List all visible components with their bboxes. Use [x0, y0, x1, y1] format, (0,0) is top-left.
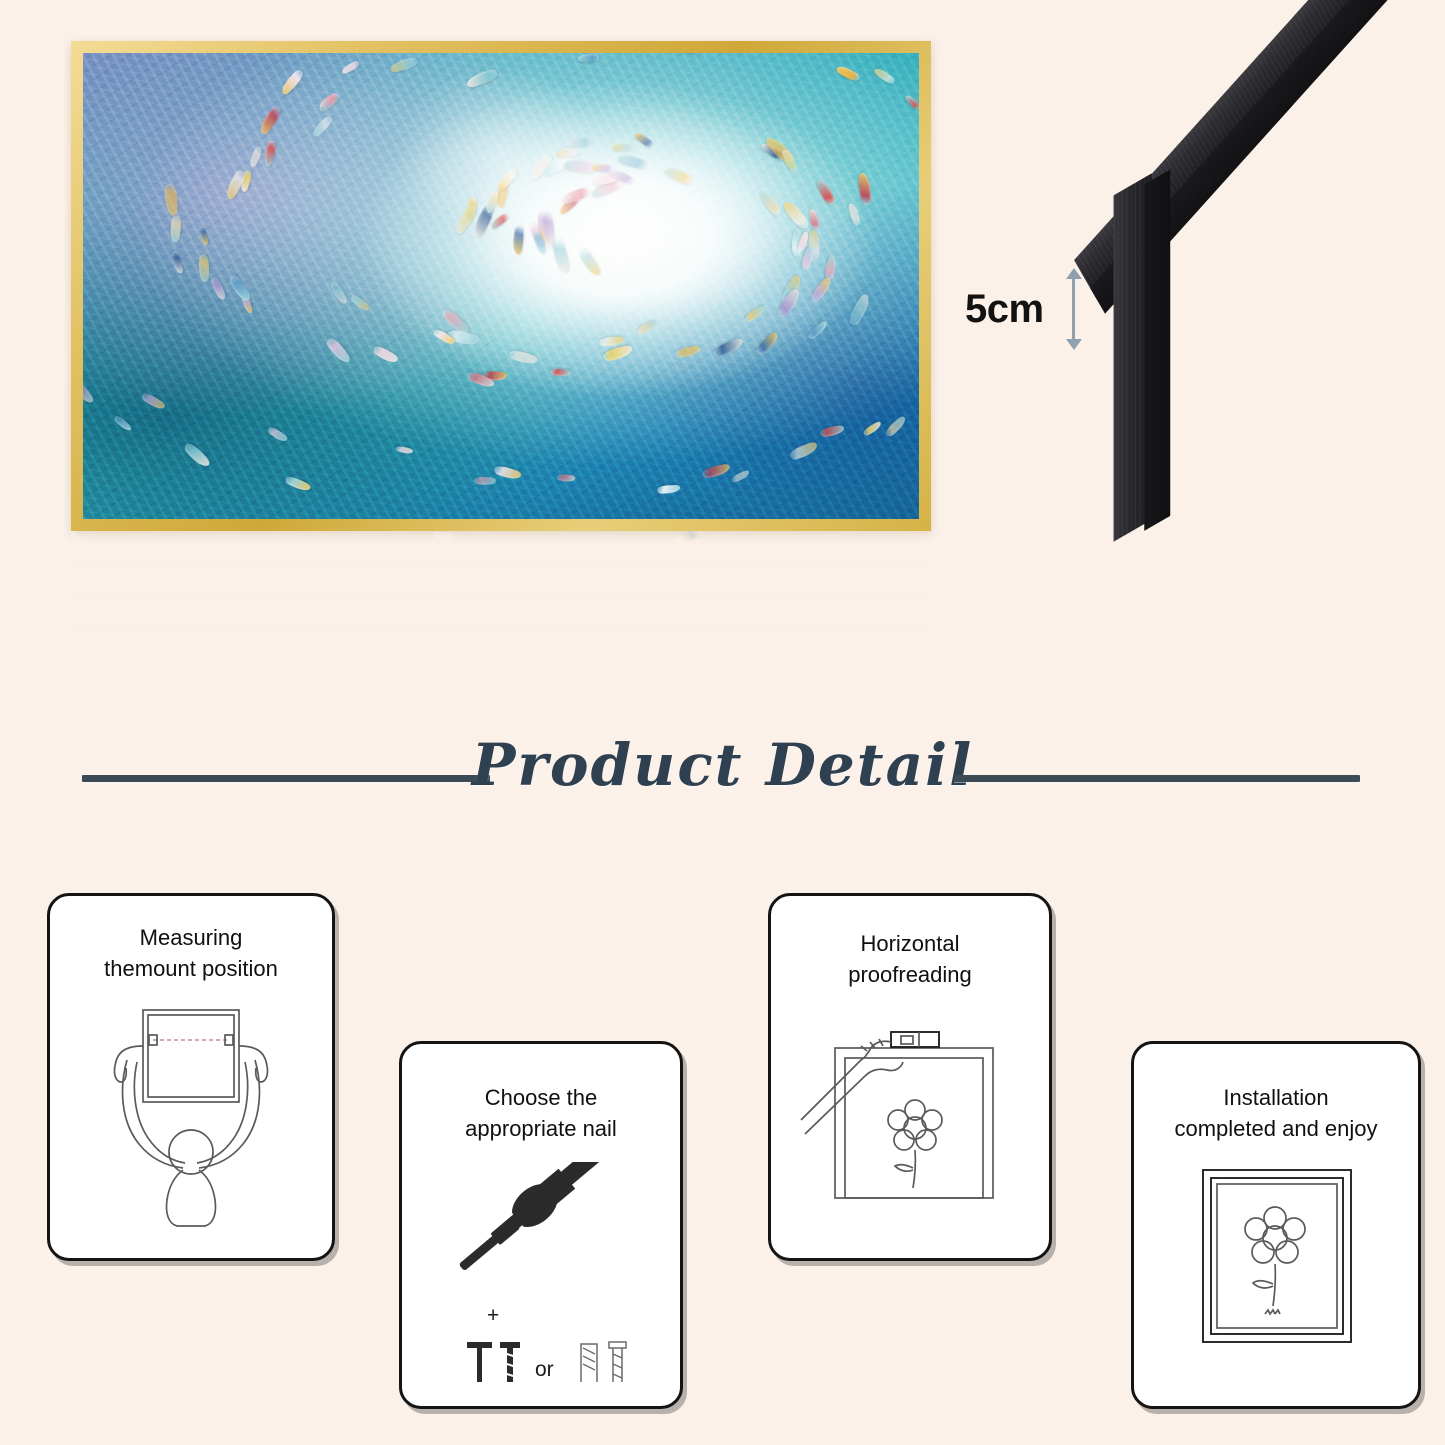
fish-brushstroke: [247, 146, 263, 168]
fish-brushstroke: [674, 53, 701, 57]
fish-brushstroke: [389, 56, 418, 73]
fish-brushstroke: [284, 474, 311, 494]
instruction-card-choose-nail[interactable]: Choose the appropriate nail +: [399, 1041, 683, 1409]
fish-brushstroke: [701, 463, 731, 479]
fish-brushstroke: [493, 464, 522, 482]
fish-brushstroke: [674, 344, 701, 358]
fish-brushstroke: [616, 152, 649, 173]
gold-frame: [71, 41, 931, 531]
fish-brushstroke: [340, 61, 360, 75]
fish-brushstroke: [664, 164, 695, 187]
fish-brushstroke: [637, 320, 659, 335]
fish-brushstroke: [566, 137, 593, 147]
fish-brushstroke: [140, 391, 166, 412]
instruction-card-horizontal-proofreading[interactable]: Horizontal proofreading: [768, 893, 1052, 1261]
fish-brushstroke: [657, 485, 680, 494]
fish-brushstroke: [199, 254, 210, 282]
fish-brushstroke: [858, 173, 872, 205]
fish-brushstroke: [712, 337, 745, 358]
fish-brushstroke: [847, 202, 861, 226]
hammer-and-nails-icon: + or: [402, 1162, 680, 1382]
fish-brushstroke: [329, 279, 349, 306]
fish-brushstroke: [759, 188, 783, 218]
card-title-line1: Choose the: [402, 1082, 680, 1113]
fish-brushstroke: [310, 115, 334, 138]
fish-brushstroke: [788, 441, 819, 461]
fish-brushstroke: [634, 130, 655, 149]
fish-brushstroke: [164, 184, 177, 216]
fish-brushstroke: [325, 335, 352, 366]
card-title-line1: Measuring: [50, 922, 332, 953]
fish-brushstroke: [861, 420, 882, 437]
fish-brushstroke: [256, 106, 282, 136]
hero-framed-painting: [71, 41, 931, 531]
depth-label: 5cm: [965, 287, 1044, 332]
fish-brushstroke: [674, 531, 701, 545]
fish-brushstroke: [433, 531, 456, 541]
fish-brushstroke: [815, 177, 836, 206]
fish-brushstroke: [395, 445, 413, 455]
card-title-line2: completed and enjoy: [1134, 1113, 1418, 1144]
fish-brushstroke: [508, 348, 539, 367]
fish-brushstroke: [228, 272, 252, 303]
arrow-head-down: [1066, 339, 1082, 350]
instruction-card-measuring[interactable]: Measuring themount position: [47, 893, 335, 1261]
framed-flower-artwork-icon: [1134, 1164, 1418, 1354]
fish-brushstroke: [754, 331, 781, 356]
fish-brushstroke: [267, 426, 288, 444]
fish-brushstroke: [612, 142, 635, 151]
hand-with-spirit-level-icon: [771, 1024, 1049, 1204]
card-title-line2: appropriate nail: [402, 1113, 680, 1144]
arrow-shaft: [1072, 276, 1075, 342]
frame-side-bar-face: [1144, 170, 1170, 531]
fish-brushstroke: [262, 140, 278, 167]
fish-brushstroke: [846, 293, 873, 328]
card-title-line2: proofreading: [771, 959, 1049, 990]
fish-brushstroke: [511, 225, 525, 255]
fish-brushstroke: [349, 292, 370, 312]
fish-brushstroke: [577, 53, 599, 62]
section-title-band: Product Detail: [0, 745, 1445, 815]
fish-brushstroke: [782, 198, 810, 231]
fish-brushstroke: [810, 208, 820, 230]
double-arrow-icon: [1066, 268, 1082, 350]
svg-text:+: +: [487, 1304, 499, 1327]
divider-right: [954, 775, 1360, 782]
svg-text:or: or: [535, 1358, 554, 1381]
fish-brushstroke: [556, 474, 575, 483]
fish-brushstroke: [744, 305, 767, 323]
fish-brushstroke: [83, 53, 84, 63]
fish-brushstroke: [169, 215, 183, 243]
fish-brushstroke: [836, 63, 861, 83]
fish-brushstroke: [473, 476, 496, 486]
fish-brushstroke: [465, 69, 498, 90]
fish-brushstroke: [83, 376, 95, 405]
fish-brushstroke: [577, 246, 602, 278]
fish-brushstroke: [199, 226, 209, 246]
fish-brushstroke: [372, 344, 399, 366]
fish-brushstroke: [599, 336, 624, 346]
fish-brushstroke: [873, 65, 896, 86]
painting-canvas: [83, 53, 919, 519]
painting-reflection: [71, 531, 931, 871]
fish-brushstroke: [819, 425, 844, 438]
depth-dimension-annotation: 5cm: [965, 268, 1082, 350]
instruction-card-installation-complete[interactable]: Installation completed and enjoy: [1131, 1041, 1421, 1409]
fish-brushstroke: [114, 414, 133, 433]
card-title-line1: Installation: [1134, 1082, 1418, 1113]
card-title-line2: themount position: [50, 953, 332, 984]
fish-brushstroke: [71, 531, 84, 543]
fish-brushstroke: [551, 238, 569, 275]
fish-brushstroke: [603, 345, 635, 362]
fish-brushstroke: [555, 147, 580, 158]
product-detail-page: 5cm Product Detail Measuring themount po…: [0, 0, 1445, 1445]
fish-brushstroke: [808, 276, 834, 304]
fish-brushstroke: [210, 276, 226, 302]
fish-brushstroke: [183, 441, 211, 470]
fish-brushstroke: [279, 68, 306, 96]
card-title-line1: Horizontal: [771, 928, 1049, 959]
fish-brushstroke: [171, 250, 184, 274]
fish-brushstroke: [806, 319, 829, 340]
fish-brushstroke: [730, 469, 750, 483]
person-holding-frame-icon: [50, 1004, 332, 1234]
fish-brushstroke: [883, 415, 908, 438]
page-title: Product Detail: [0, 731, 1445, 799]
fish-brushstroke: [551, 367, 572, 377]
